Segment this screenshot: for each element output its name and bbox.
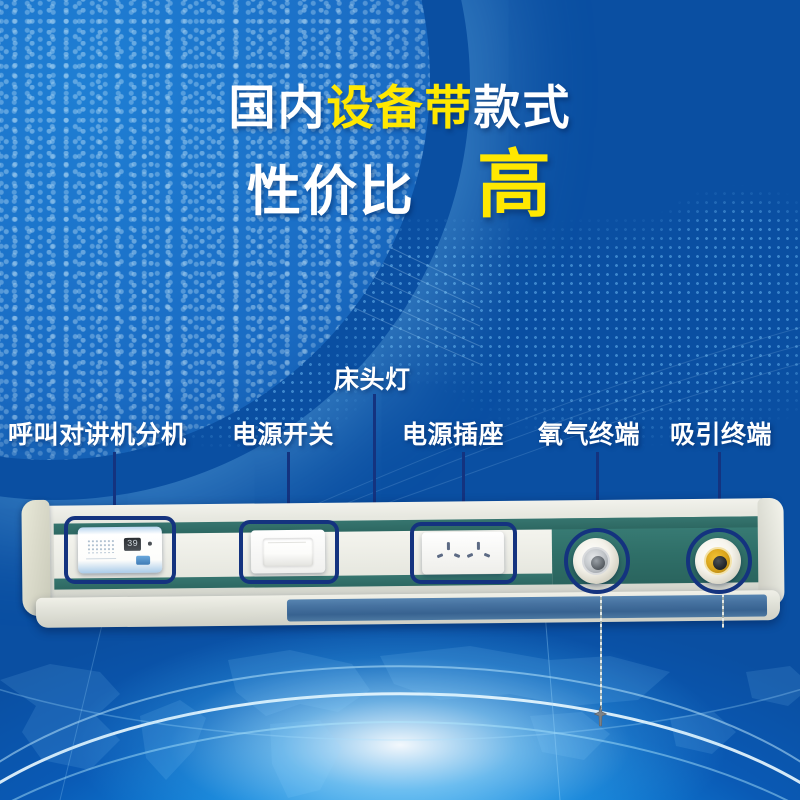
callout-label-oxygen: 氧气终端	[538, 415, 640, 451]
highlight-box-power-switch	[239, 520, 339, 584]
highlight-box-intercom	[64, 516, 176, 584]
callout-label-power-switch: 电源开关	[232, 415, 334, 451]
highlight-box-power-socket	[410, 522, 517, 584]
headline-line-2: 性价比高	[0, 148, 800, 229]
highlight-circle-oxygen	[564, 528, 630, 594]
headline-text-value-ratio: 性价比	[247, 162, 415, 222]
headline-line-1: 国内设备带款式	[0, 78, 800, 138]
headline-text-high: 高	[477, 143, 553, 226]
highlight-circle-suction	[686, 528, 752, 594]
callout-label-suction: 吸引终端	[670, 415, 772, 451]
callout-label-bed-lamp: 床头灯	[334, 360, 411, 396]
callout-label-intercom: 呼叫对讲机分机	[8, 415, 187, 451]
headline-text-style: 款式	[474, 81, 572, 134]
world-map-silhouette	[0, 620, 800, 800]
oxygen-pull-cord	[600, 594, 602, 716]
headline: 国内设备带款式 性价比高	[0, 78, 800, 229]
headline-text-equipment-belt: 设备带	[327, 81, 474, 134]
callout-label-power-socket: 电源插座	[402, 415, 504, 451]
pull-cord-handle-icon	[594, 706, 607, 728]
promo-banner: 国内设备带款式 性价比高 呼叫对讲机分机 电源开关 床头灯 电源插座 氧气终端 …	[0, 0, 800, 800]
suction-pull-cord	[722, 594, 724, 628]
headline-text-domestic: 国内	[229, 81, 327, 134]
